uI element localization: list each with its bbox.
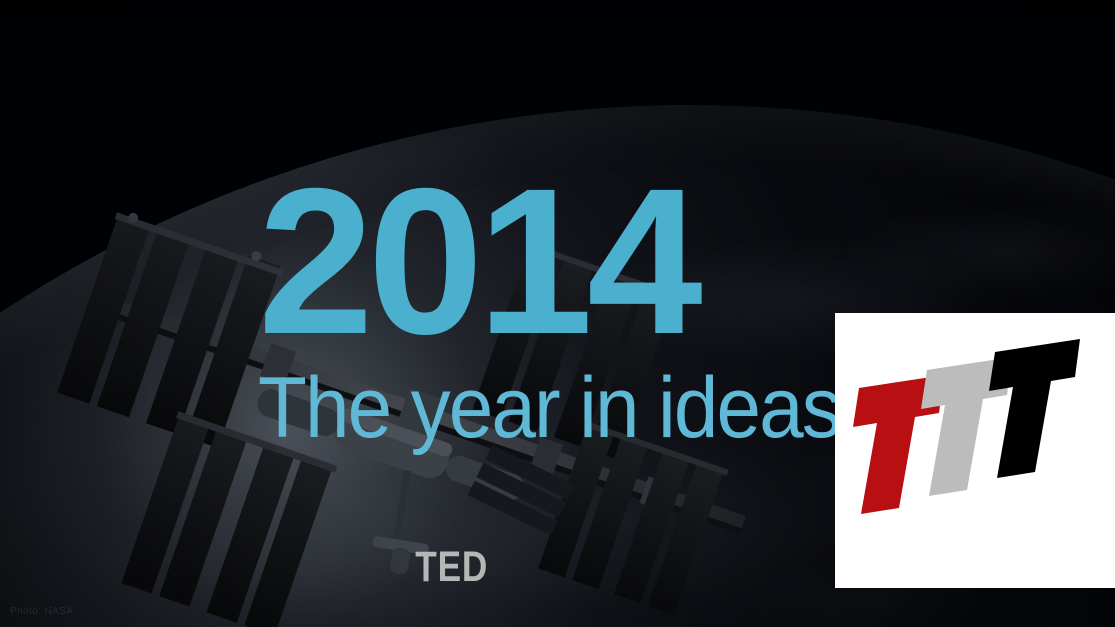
- ttt-logo-card[interactable]: [835, 313, 1115, 588]
- ttt-logo-icon: [835, 313, 1115, 588]
- page-title-year: 2014: [258, 158, 697, 366]
- photo-credit: Photo: NASA: [10, 606, 73, 617]
- logo-letter-t-black: [989, 339, 1080, 478]
- page-subtitle: The year in ideas: [258, 360, 836, 456]
- slide-canvas: 2014 The year in ideas TED Photo: NASA: [0, 0, 1115, 627]
- subtitle-clip: The year in ideas: [0, 360, 836, 465]
